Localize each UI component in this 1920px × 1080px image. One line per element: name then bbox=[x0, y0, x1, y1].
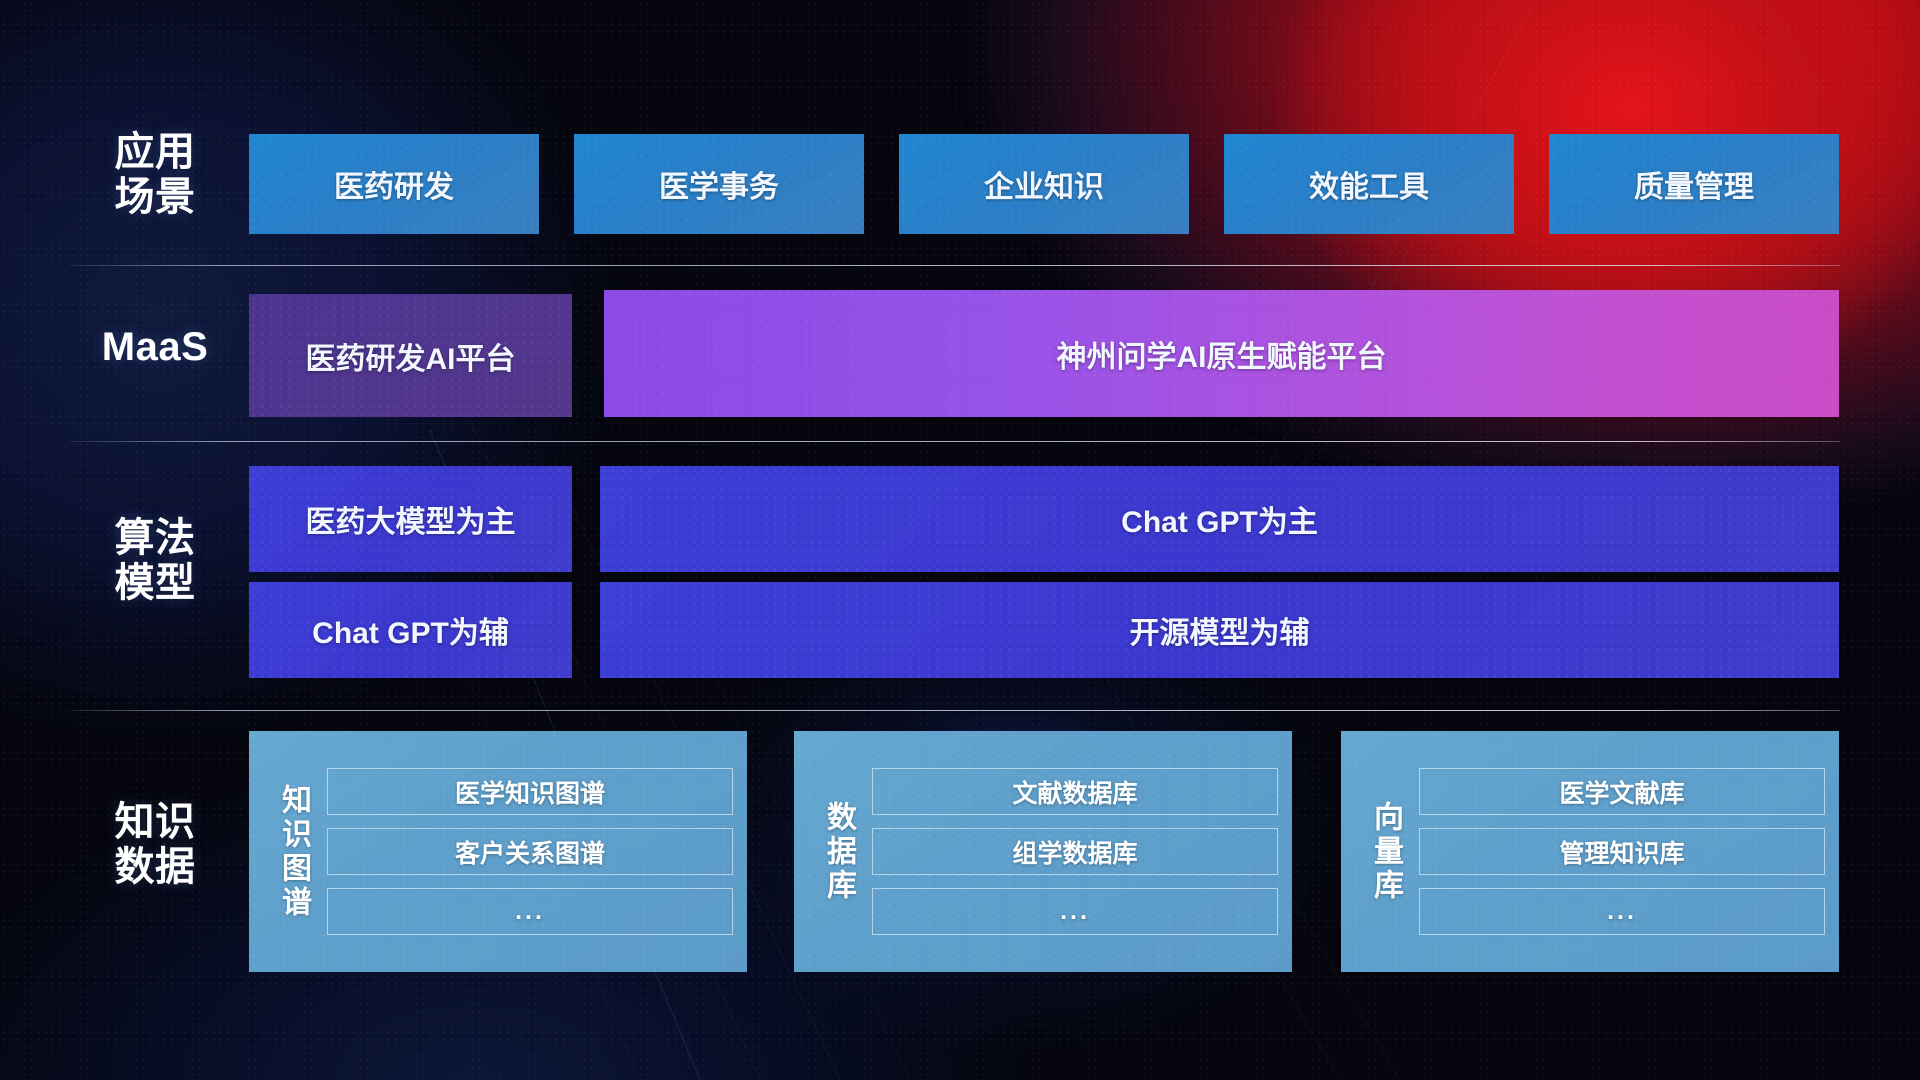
app-cell-3[interactable]: 效能工具 bbox=[1224, 134, 1514, 234]
maas-cell-shenzhou-wenxue-platform[interactable]: 神州问学AI原生赋能平台 bbox=[604, 290, 1839, 417]
row-label-knowledge: 知识 数据 bbox=[70, 800, 240, 890]
knowledge-item-vector-1[interactable]: 管理知识库 bbox=[1419, 828, 1825, 875]
knowledge-panel-database-title: 数据库 bbox=[812, 801, 854, 903]
divider-algorithm-knowledge bbox=[70, 710, 1840, 711]
architecture-diagram: 应用 场景 医药研发 医学事务 企业知识 效能工具 质量管理 MaaS 医药研发… bbox=[0, 0, 1920, 1080]
knowledge-panel-graph[interactable]: 知识图谱 医学知识图谱 客户关系图谱 ... bbox=[249, 731, 747, 972]
algo-cell-chatgpt-primary[interactable]: Chat GPT为主 bbox=[600, 466, 1839, 572]
app-cell-1[interactable]: 医学事务 bbox=[574, 134, 864, 234]
divider-application-maas bbox=[70, 265, 1840, 266]
algo-cell-pharma-llm-primary[interactable]: 医药大模型为主 bbox=[249, 466, 572, 572]
algo-cell-opensource-secondary[interactable]: 开源模型为辅 bbox=[600, 582, 1839, 678]
algo-cell-chatgpt-secondary[interactable]: Chat GPT为辅 bbox=[249, 582, 572, 678]
app-cell-2[interactable]: 企业知识 bbox=[899, 134, 1189, 234]
knowledge-panel-vector-title: 向量库 bbox=[1359, 801, 1401, 903]
knowledge-panel-database[interactable]: 数据库 文献数据库 组学数据库 ... bbox=[794, 731, 1292, 972]
knowledge-item-graph-1[interactable]: 客户关系图谱 bbox=[327, 828, 733, 875]
row-label-maas: MaaS bbox=[70, 325, 240, 370]
knowledge-item-vector-2[interactable]: ... bbox=[1419, 888, 1825, 935]
knowledge-panel-vector[interactable]: 向量库 医学文献库 管理知识库 ... bbox=[1341, 731, 1839, 972]
maas-cell-pharma-ai-platform[interactable]: 医药研发AI平台 bbox=[249, 294, 572, 417]
row-label-algorithm: 算法 模型 bbox=[70, 516, 240, 606]
knowledge-panel-graph-title: 知识图谱 bbox=[267, 784, 309, 920]
knowledge-item-graph-2[interactable]: ... bbox=[327, 888, 733, 935]
app-cell-4[interactable]: 质量管理 bbox=[1549, 134, 1839, 234]
knowledge-item-database-2[interactable]: ... bbox=[872, 888, 1278, 935]
row-label-application: 应用 场景 bbox=[70, 130, 240, 220]
knowledge-item-database-0[interactable]: 文献数据库 bbox=[872, 768, 1278, 815]
knowledge-item-vector-0[interactable]: 医学文献库 bbox=[1419, 768, 1825, 815]
knowledge-item-database-1[interactable]: 组学数据库 bbox=[872, 828, 1278, 875]
knowledge-item-graph-0[interactable]: 医学知识图谱 bbox=[327, 768, 733, 815]
divider-maas-algorithm bbox=[70, 441, 1840, 442]
app-cell-0[interactable]: 医药研发 bbox=[249, 134, 539, 234]
